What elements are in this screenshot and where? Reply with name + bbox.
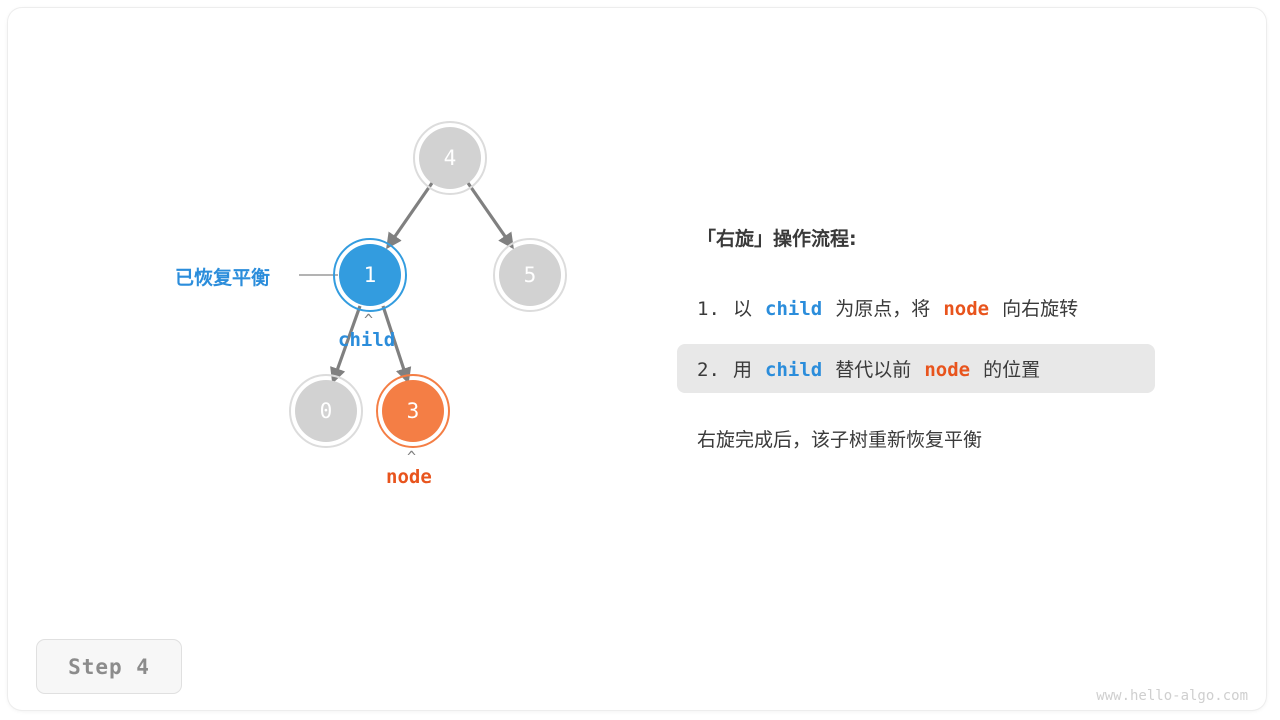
step-code-node: node: [924, 359, 970, 381]
step-text-pre: 用: [733, 359, 752, 381]
step-text-mid: 替代以前: [835, 359, 911, 381]
node-value: 4: [444, 148, 457, 169]
step-text-post: 的位置: [983, 359, 1040, 381]
step-number: 2.: [697, 359, 720, 381]
balanced-label: 已恢复平衡: [175, 263, 270, 290]
tree-node-1[interactable]: 1: [339, 244, 401, 306]
step-code-child: child: [765, 359, 822, 381]
node-value: 1: [364, 265, 377, 286]
tree-node-5[interactable]: 5: [499, 244, 561, 306]
node-caret: ^: [407, 448, 416, 466]
step-text-mid: 为原点，将: [835, 298, 930, 320]
step-item-2: 2. 用 child 替代以前 node 的位置: [677, 344, 1155, 393]
step-item-1: 1. 以 child 为原点，将 node 向右旋转: [697, 283, 1167, 332]
explanation-panel: 「右旋」操作流程: 1. 以 child 为原点，将 node 向右旋转 2. …: [697, 224, 1167, 452]
step-badge: Step 4: [36, 639, 182, 694]
step-code-child: child: [765, 298, 822, 320]
node-label: node: [386, 466, 432, 488]
watermark: www.hello-algo.com: [1096, 688, 1248, 704]
node-value: 3: [407, 401, 420, 422]
tree-node-0[interactable]: 0: [295, 380, 357, 442]
step-text-pre: 以: [733, 298, 752, 320]
child-label: child: [338, 329, 395, 351]
step-number: 1.: [697, 298, 720, 320]
step-code-node: node: [943, 298, 989, 320]
node-value: 5: [524, 265, 537, 286]
node-value: 0: [320, 401, 333, 422]
step-text-post: 向右旋转: [1002, 298, 1078, 320]
tree-node-3[interactable]: 3: [382, 380, 444, 442]
diagram-canvas: 4 1 5 0 3 已恢复平衡 ^ child ^ node 「右旋」操作流程:…: [0, 0, 1280, 720]
child-caret: ^: [364, 311, 373, 329]
panel-footer-text: 右旋完成后，该子树重新恢复平衡: [697, 425, 1167, 452]
tree-node-4[interactable]: 4: [419, 127, 481, 189]
panel-title: 「右旋」操作流程:: [697, 224, 1167, 251]
